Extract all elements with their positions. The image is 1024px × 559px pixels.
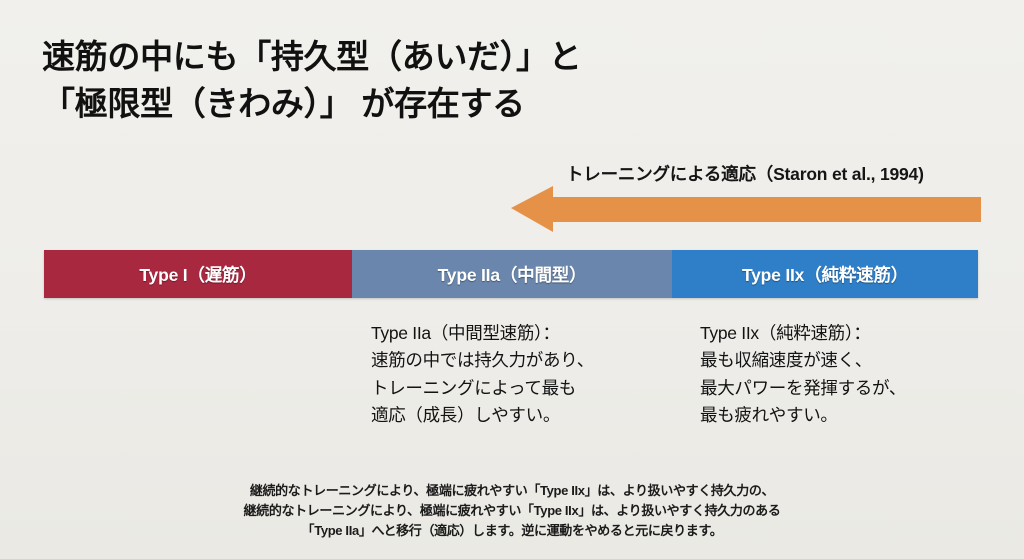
fiber-type-bar: Type I（遅筋） Type IIa（中間型） Type IIx（純粋速筋） (44, 250, 978, 298)
slide-canvas: 速筋の中にも「持久型（あいだ）」と 「極限型（きわみ）」 が存在する トレーニン… (0, 0, 1024, 559)
bar-segment-type-iix: Type IIx（純粋速筋） (672, 250, 978, 298)
subtitle-caption: 継続的なトレーニングにより、極端に疲れやすい「Type IIx」は、より扱いやす… (0, 481, 1024, 541)
page-title: 速筋の中にも「持久型（あいだ）」と 「極限型（きわみ）」 が存在する (42, 34, 942, 128)
arrow-annotation-label: トレーニングによる適応（Staron et al., 1994) (566, 161, 924, 186)
description-type-iia: Type IIa（中間型速筋）： 速筋の中では持久力があり、 トレーニングによっ… (371, 320, 671, 429)
description-type-iix: Type IIx（純粋速筋）： 最も収縮速度が速く、 最大パワーを発揮するが、 … (700, 320, 1000, 429)
caption-line-2: 継続的なトレーニングにより、極端に疲れやすい「Type IIx」は、より扱いやす… (0, 501, 1024, 521)
caption-line-1: 継続的なトレーニングにより、極端に疲れやすい「Type IIx」は、より扱いやす… (0, 481, 1024, 501)
bar-segment-label: Type IIx（純粋速筋） (742, 262, 908, 287)
bar-segment-type-iia: Type IIa（中間型） (352, 250, 672, 298)
left-arrow-icon (511, 184, 981, 234)
bar-segment-label: Type I（遅筋） (139, 262, 256, 287)
caption-line-3: 「Type IIa」へと移行（適応）します。逆に運動をやめると元に戻ります。 (0, 521, 1024, 541)
bar-segment-type-i: Type I（遅筋） (44, 250, 352, 298)
bar-segment-label: Type IIa（中間型） (438, 262, 587, 287)
